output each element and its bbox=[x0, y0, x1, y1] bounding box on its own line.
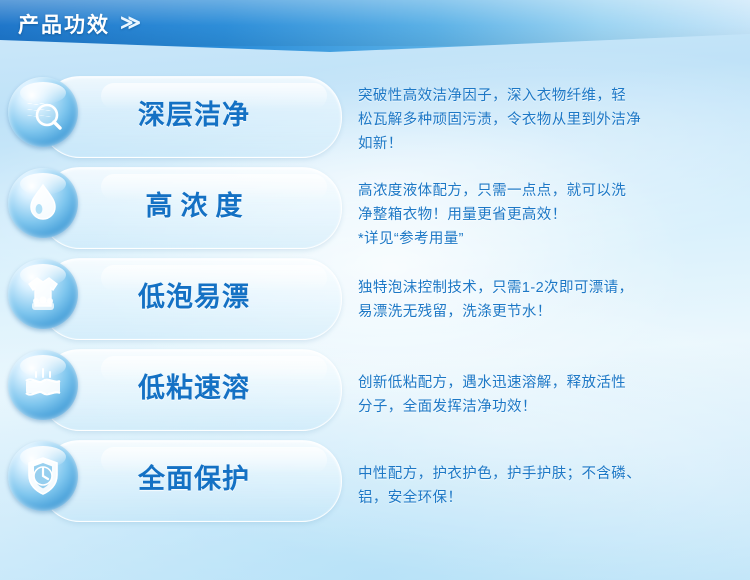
shield-protection-icon bbox=[8, 441, 78, 511]
list-item: 低泡易漂 独特泡沫控制技术，只需1-2次即可漂请， 易漂洗无残留，洗涤更节水！ bbox=[0, 254, 750, 342]
feature-title: 低粘速溶 bbox=[96, 366, 292, 405]
feature-list: 深层洁净 突破性高效洁净因子，深入衣物纤维，轻 松瓦解多种顽固污渍，令衣物从里到… bbox=[0, 72, 750, 527]
shirt-with-foam-icon bbox=[8, 259, 78, 329]
feature-title: 深层洁净 bbox=[96, 93, 292, 132]
feature-description: 独特泡沫控制技术，只需1-2次即可漂请， 易漂洗无残留，洗涤更节水！ bbox=[358, 276, 730, 324]
feature-description: 创新低粘配方，遇水迅速溶解，释放活性 分子，全面发挥洁净功效！ bbox=[358, 371, 730, 419]
list-item: 深层洁净 突破性高效洁净因子，深入衣物纤维，轻 松瓦解多种顽固污渍，令衣物从里到… bbox=[0, 72, 750, 160]
feature-description: 高浓度液体配方，只需一点点，就可以洗 净整箱衣物！用量更省更高效！ *详见“参考… bbox=[358, 179, 730, 251]
header-banner-gloss bbox=[0, 0, 750, 46]
list-item: 全面保护 中性配方，护衣护色，护手护肤；不含磷、 铝，安全环保！ bbox=[0, 436, 750, 524]
feature-title: 高浓度 bbox=[96, 184, 292, 223]
feature-description: 突破性高效洁净因子，深入衣物纤维，轻 松瓦解多种顽固污渍，令衣物从里到外洁净 如… bbox=[358, 84, 730, 156]
list-item: 低粘速溶 创新低粘配方，遇水迅速溶解，释放活性 分子，全面发挥洁净功效！ bbox=[0, 345, 750, 433]
header-banner bbox=[0, 0, 750, 58]
page-title: 产品功效 bbox=[18, 9, 110, 39]
water-drop-icon bbox=[8, 168, 78, 238]
feature-title: 低泡易漂 bbox=[96, 275, 292, 314]
product-benefits-poster: 产品功效 ≫ 深层洁净 突破性高效洁净因子，深入衣物纤 bbox=[0, 0, 750, 580]
magnifier-over-fabric-icon bbox=[8, 77, 78, 147]
list-item: 高浓度 高浓度液体配方，只需一点点，就可以洗 净整箱衣物！用量更省更高效！ *详… bbox=[0, 163, 750, 251]
double-chevron-right-icon: ≫ bbox=[120, 10, 140, 35]
feature-title: 全面保护 bbox=[96, 457, 292, 496]
dissolving-liquid-icon bbox=[8, 350, 78, 420]
feature-description: 中性配方，护衣护色，护手护肤；不含磷、 铝，安全环保！ bbox=[358, 462, 730, 510]
